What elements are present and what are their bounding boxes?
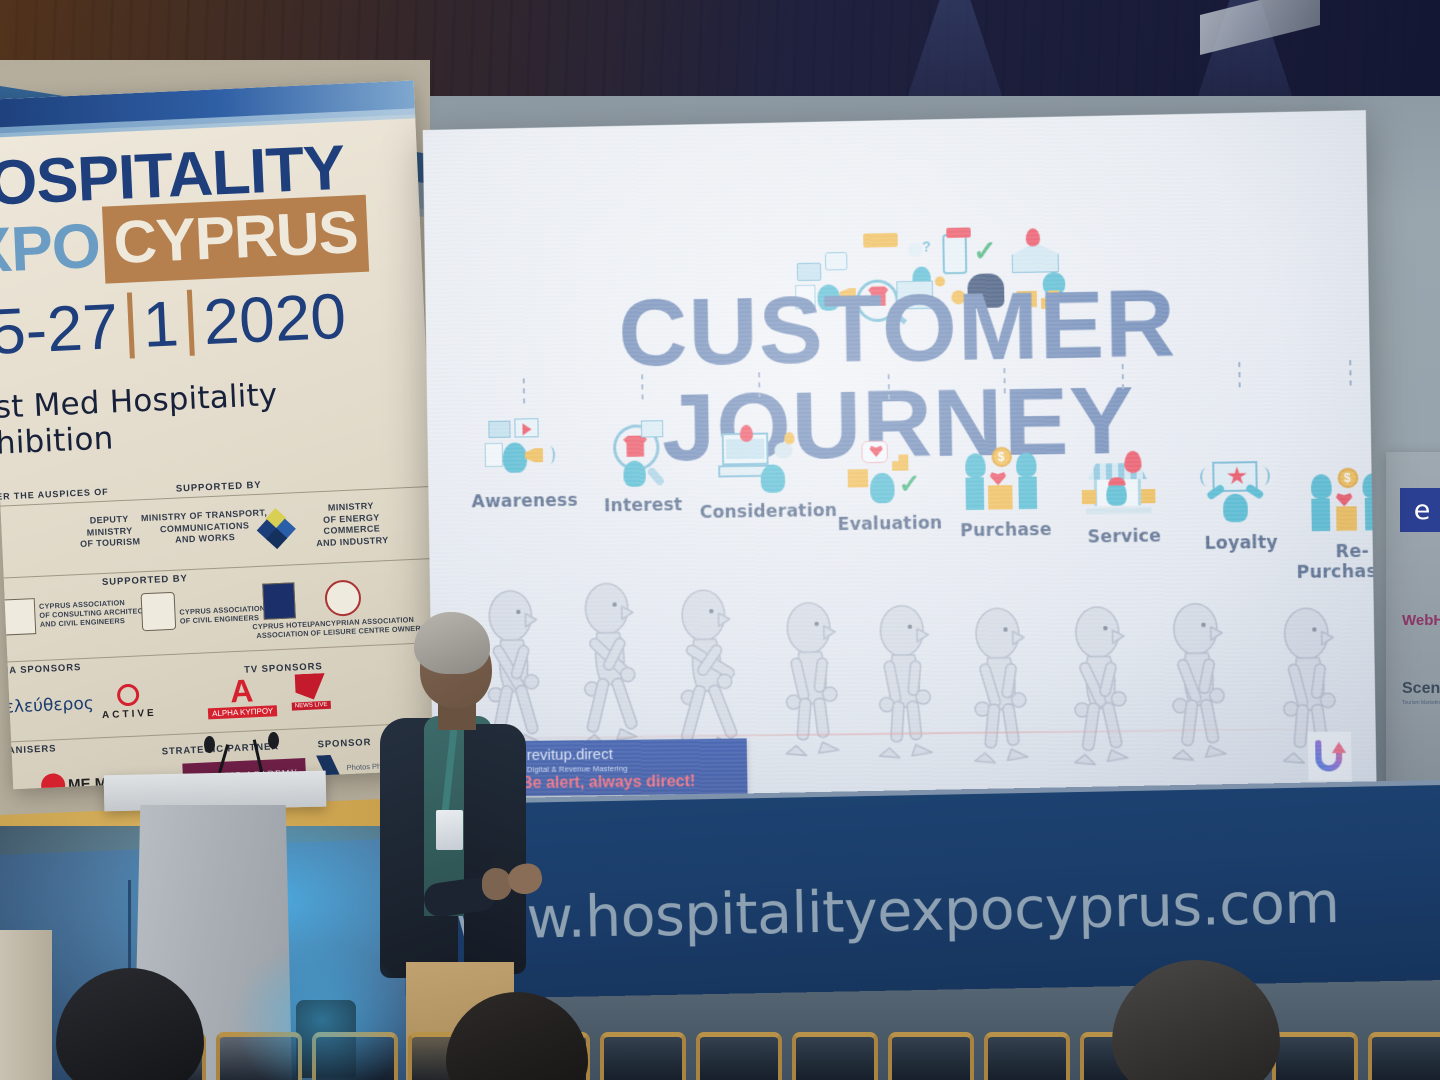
presenter-jacket-right — [464, 724, 526, 974]
presenter-hair — [414, 612, 490, 674]
walking-figure — [1056, 605, 1146, 773]
journey-stage-label-5: Service — [1063, 526, 1186, 548]
media-logo-phileleftheros: Φιλελεύθερος — [0, 694, 94, 719]
journey-stage-label-1: Interest — [583, 495, 704, 517]
banner-association-1: CYPRUS ASSOCIATION OF CONSULTING ARCHITE… — [39, 597, 148, 629]
banner-label-strategic-partner: STRATEGIC PARTNER — [162, 741, 280, 757]
walk-cycle-figures — [470, 572, 1366, 759]
media-logo-2-text: ACTIVE — [102, 708, 157, 721]
tv-logo-1-text: ALPHA ΚΥΠΡΟΥ — [208, 705, 278, 719]
journey-stage-label-4: Purchase — [945, 520, 1067, 542]
banner-date-year: 2020 — [202, 279, 348, 359]
walking-figure — [566, 582, 655, 749]
banner-title-expo: EXPO — [0, 209, 101, 289]
banner-label-auspices: UNDER THE AUSPICES OF — [0, 487, 109, 503]
tv-logo-newslive: NEWS LIVE — [290, 673, 330, 711]
journey-stage-interest: Interest — [582, 422, 704, 517]
assoc-logo-3-icon — [262, 582, 296, 619]
banner-association-3: CYPRUS HOTEL ASSOCIATION — [246, 619, 319, 640]
banner-label-sponsor: SPONSOR — [317, 737, 371, 750]
room-pillar — [0, 930, 52, 1080]
assoc-logo-2-icon — [141, 592, 177, 632]
banner-cyprus-block: CYPRUS — [102, 195, 369, 284]
banner-date-separator-1 — [127, 292, 135, 358]
presenter-hand-left — [482, 868, 512, 900]
customer-journey-stages: Awareness Interest — [457, 405, 1352, 570]
megaphone-person-icon — [482, 418, 565, 489]
banner-date-days: 25-27 — [0, 289, 120, 370]
journey-stage-label-3: Evaluation — [829, 513, 951, 535]
tv-logo-2-text: NEWS LIVE — [292, 701, 331, 711]
star-card-icon — [1198, 459, 1283, 531]
assoc-logo-1-icon — [0, 598, 36, 636]
journey-stage-purchase: $ Purchase — [944, 446, 1068, 542]
ministry-diamond-logo-icon — [259, 510, 295, 546]
banner-ministry-3: MINISTRY OF ENERGY COMMERCE AND INDUSTRY — [301, 499, 403, 550]
journey-stage-repurchasing: $ Re-Purchasing — [1289, 467, 1376, 583]
banner-date-separator-2 — [187, 290, 195, 356]
media-logo-active: ACTIVE — [101, 683, 157, 721]
heart-compare-icon: ✓ — [847, 440, 931, 512]
walking-figure — [956, 607, 1046, 775]
microphone-1-head — [204, 736, 215, 753]
right-banner-scenario: Scenario — [1402, 680, 1440, 698]
walking-figure — [663, 589, 752, 756]
microphone-2-head — [268, 732, 279, 749]
journey-stage-consideration: Consideration — [698, 428, 821, 523]
journey-stage-loyalty: Loyalty — [1178, 458, 1303, 554]
banner-label-media-sponsors: MEDIA SPONSORS — [0, 662, 81, 677]
journey-stage-service: Service — [1062, 452, 1186, 548]
laptop-review-icon — [718, 428, 802, 500]
presenter-badge — [436, 810, 463, 850]
banner-title-row2: EXPO CYPRUS — [0, 195, 369, 292]
banner-subtitle: East Med Hospitality Exhibition — [0, 370, 430, 463]
banner-date-month: 1 — [141, 286, 180, 362]
handshake-coin-icon: $ — [963, 446, 1048, 518]
banner-date: 25-27 1 2020 — [0, 279, 347, 371]
walking-figure — [1154, 602, 1245, 770]
conference-hall-scene: HOSPITALITY EXPO CYPRUS 25-27 1 2020 Eas… — [0, 0, 1440, 1080]
revitup-u-arrow-logo-icon — [1308, 732, 1352, 781]
banner-label-supported-2: SUPPORTED BY — [102, 573, 188, 588]
walking-figure — [861, 604, 951, 771]
media-logo-1-text: Φιλελεύθερος — [0, 694, 94, 719]
expedia-logo-mark: e — [1414, 495, 1431, 526]
repeat-handshake-icon: $ — [1309, 467, 1377, 539]
banner-title-cyprus: CYPRUS — [112, 198, 359, 276]
event-website-url: www.hospitalityexpocyprus.com — [434, 868, 1440, 953]
revitup-brand-suffix: .direct — [572, 746, 613, 763]
journey-stage-label-0: Awareness — [464, 491, 585, 513]
magnifier-tshirt-icon — [601, 422, 685, 494]
journey-stage-awareness: Awareness — [463, 417, 585, 512]
tv-logo-alpha: A ALPHA ΚΥΠΡΟΥ — [206, 675, 277, 719]
banner-label-supported-1: SUPPORTED BY — [176, 480, 262, 495]
assoc-logo-4-icon — [324, 579, 362, 617]
journey-stage-label-2: Consideration — [700, 501, 821, 523]
expedia-logo-icon: e — [1400, 488, 1440, 532]
right-banner-scenario-sub: Tourism Marketing — [1402, 700, 1440, 706]
walking-figure — [768, 601, 858, 768]
journey-stage-evaluation: ✓ Evaluation — [828, 440, 951, 536]
right-banner-webhotelier: WebHotelier — [1402, 612, 1440, 629]
storefront-pin-icon — [1081, 452, 1166, 524]
journey-stage-label-6: Loyalty — [1180, 532, 1303, 554]
projection-screen: ? ✓ CUSTOMER JOURNEY — [423, 110, 1377, 802]
